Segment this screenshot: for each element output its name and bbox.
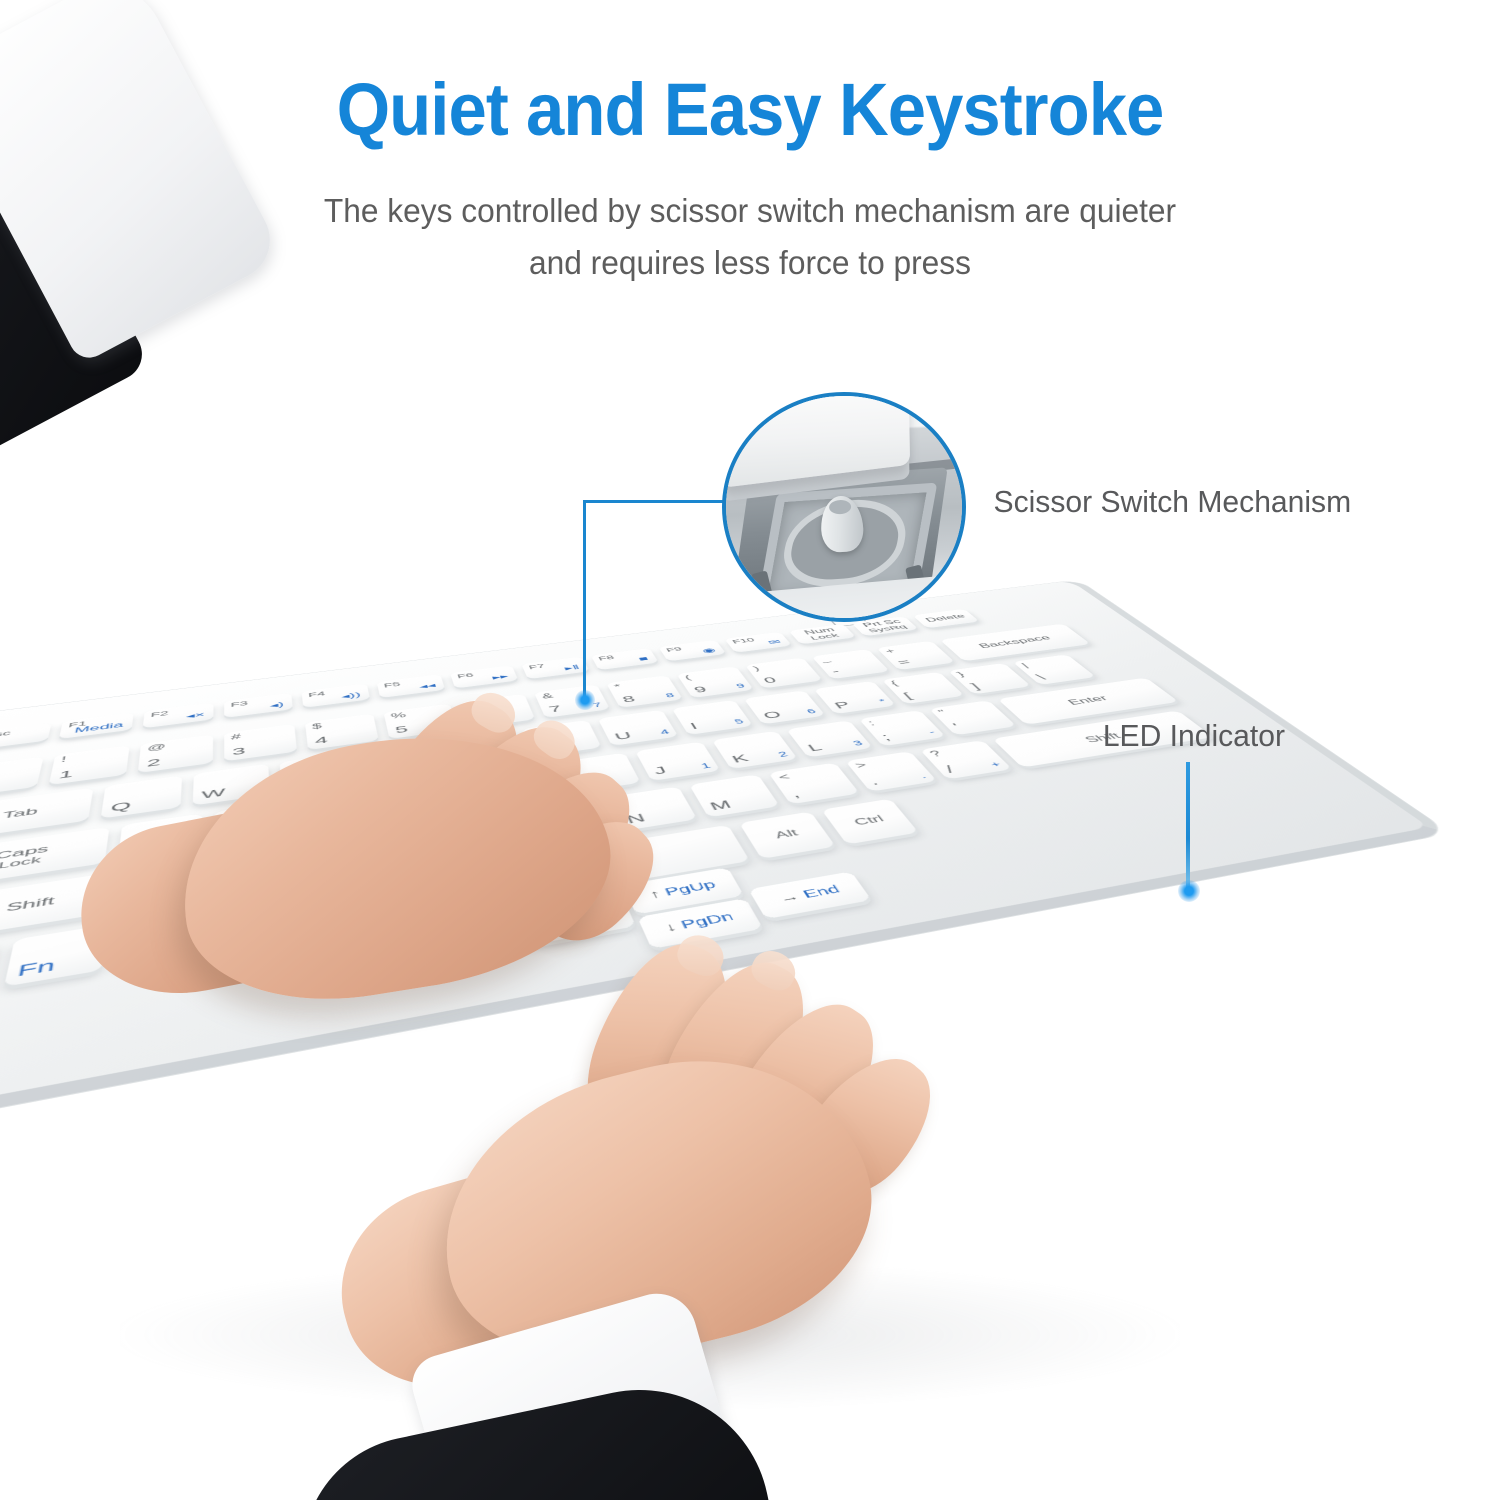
key-label: O <box>761 709 784 721</box>
key-numpad-label: * <box>877 698 888 705</box>
scissor-leader-line-vertical <box>583 500 586 700</box>
key-shift-label: + <box>883 648 897 655</box>
key-label: ] <box>968 682 983 692</box>
key-shift-label: ? <box>928 750 945 759</box>
key-label: L <box>805 742 825 754</box>
key-numpad-label: 9 <box>734 682 746 689</box>
key-numpad-label: 1 <box>699 761 712 770</box>
key-numpad-label: 8 <box>664 692 675 699</box>
key-label: - <box>829 667 843 676</box>
key-shift-label: ( <box>683 674 693 681</box>
key-shift-label: _ <box>818 656 832 663</box>
callout-label-scissor-switch: Scissor Switch Mechanism <box>994 484 1352 520</box>
key-label: F10 <box>731 637 756 645</box>
key-label: [ <box>901 691 915 701</box>
key-shift-label: * <box>613 684 623 692</box>
key-label: Esc <box>0 729 12 739</box>
subtitle-line-2: and requires less force to press <box>270 237 1230 289</box>
key-numpad-label: 2 <box>776 750 789 758</box>
next-track-icon: ▸▸ <box>491 672 510 681</box>
key-shift-label: } <box>955 671 967 678</box>
key-label: F6 <box>456 672 474 680</box>
key-shift-label: ) <box>752 666 762 673</box>
key-label: \ <box>1033 673 1049 682</box>
key-label: F4 <box>308 690 326 698</box>
subtitle-line-1: The keys controlled by scissor switch me… <box>270 185 1230 237</box>
key-label: = <box>895 658 914 668</box>
key-shift-label: " <box>937 709 950 717</box>
scissor-leader-line-horizontal <box>583 500 723 503</box>
key-numpad-label: 5 <box>733 718 745 726</box>
key-numpad-label: 6 <box>805 707 818 714</box>
key-label: ' <box>950 722 964 733</box>
key-numpad-label: 3 <box>851 739 865 747</box>
product-marketing-image: Quiet and Easy Keystroke The keys contro… <box>0 0 1500 1500</box>
key-label: I <box>688 721 700 732</box>
key-label: P <box>832 700 854 711</box>
callout-label-led-indicator: LED Indicator <box>1103 718 1285 754</box>
play-pause-icon: ▸‖ <box>563 663 581 672</box>
scissor-switch-magnifier <box>722 392 966 622</box>
key-label: 9 <box>692 685 709 696</box>
browser-icon: ◉ <box>700 646 718 654</box>
page-title: Quiet and Easy Keystroke <box>53 68 1448 152</box>
key-shift-label: { <box>889 680 900 687</box>
previous-track-icon: ◂◂ <box>418 681 436 691</box>
stop-icon: ■ <box>637 655 650 662</box>
led-leader-line <box>1186 762 1190 890</box>
key-numpad-label: + <box>988 760 1004 769</box>
key-label: 0 <box>761 675 779 685</box>
key-label: F8 <box>597 654 615 661</box>
led-callout-dot <box>1178 880 1200 902</box>
mail-icon: ✉ <box>766 638 783 646</box>
key-label: F9 <box>665 646 683 653</box>
page-subtitle: The keys controlled by scissor switch me… <box>270 185 1230 289</box>
key-label: F5 <box>383 681 401 689</box>
key-label: F7 <box>528 663 546 671</box>
scissor-switch-closeup <box>726 396 962 618</box>
key-label: ; <box>879 732 894 743</box>
key-shift-label: : <box>866 720 877 728</box>
key-shift-label: | <box>1020 662 1031 669</box>
key-numpad-label: - <box>926 728 937 735</box>
key-label: K <box>729 752 751 765</box>
key-shift-label: > <box>853 761 870 771</box>
